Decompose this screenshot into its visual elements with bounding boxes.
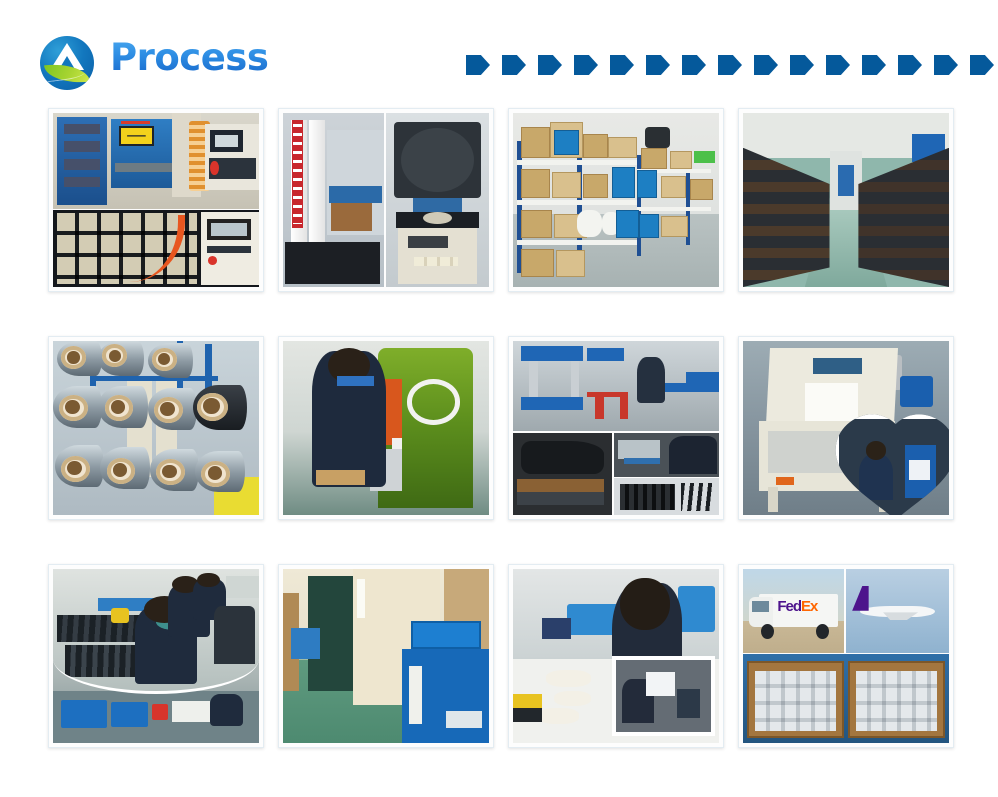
chevron-right-icon [718, 55, 742, 75]
heart-inset-photo [834, 414, 949, 515]
photo-material-rolls [53, 341, 259, 515]
packed-cartons-photo [743, 654, 949, 743]
process-photo-panel [48, 108, 264, 292]
chevron-right-icon [970, 55, 994, 75]
photo-mold-storage-aisle [743, 113, 949, 287]
process-photo-panel [278, 336, 494, 520]
page-title: Process [110, 37, 268, 79]
chevron-right-icon [502, 55, 526, 75]
company-logo-icon [40, 36, 94, 90]
photo-packing-station [513, 569, 719, 743]
photo-assembly-workstations [53, 569, 259, 743]
process-photo-panel [508, 108, 724, 292]
chevron-right-icon [466, 55, 490, 75]
process-photo-panel: FedEx [738, 564, 954, 748]
process-photo-grid: FedEx [48, 108, 952, 748]
photo-curing-oven-corridor [283, 569, 489, 743]
chevron-right-icon [934, 55, 958, 75]
photo-cnc-machining [53, 113, 259, 287]
courier-truck-photo: FedEx [743, 569, 844, 653]
process-photo-panel [738, 108, 954, 292]
chevron-right-icon [610, 55, 634, 75]
chevron-right-icon [790, 55, 814, 75]
process-photo-panel [738, 336, 954, 520]
process-photo-panel [278, 564, 494, 748]
chevron-right-icon [538, 55, 562, 75]
process-photo-panel [508, 564, 724, 748]
photo-testing-equipment [283, 113, 489, 287]
process-photo-panel [48, 564, 264, 748]
chevron-right-icon [754, 55, 778, 75]
chevron-right-icon [682, 55, 706, 75]
chevron-right-icon [826, 55, 850, 75]
courier-logo: FedEx [777, 599, 817, 615]
page-header: Process [0, 0, 998, 96]
chevron-right-icon [898, 55, 922, 75]
photo-warehouse-shelving [513, 113, 719, 287]
process-photo-panel [278, 108, 494, 292]
courier-plane-photo [846, 569, 949, 653]
process-page: Process [0, 0, 998, 797]
courier-logo-part-2: Ex [801, 598, 817, 615]
chevron-right-icon [646, 55, 670, 75]
photo-shipping-logistics: FedEx [743, 569, 949, 743]
courier-logo-part-1: Fed [777, 598, 801, 615]
photo-cutting-press-operator [283, 341, 489, 515]
process-photo-panel [48, 336, 264, 520]
inset-photo [612, 656, 715, 736]
photo-test-chamber [743, 341, 949, 515]
chevron-right-icon [862, 55, 886, 75]
arrow-divider-strip [466, 54, 956, 76]
chevron-right-icon [574, 55, 598, 75]
photo-hydraulic-press-line [513, 341, 719, 515]
process-photo-panel [508, 336, 724, 520]
